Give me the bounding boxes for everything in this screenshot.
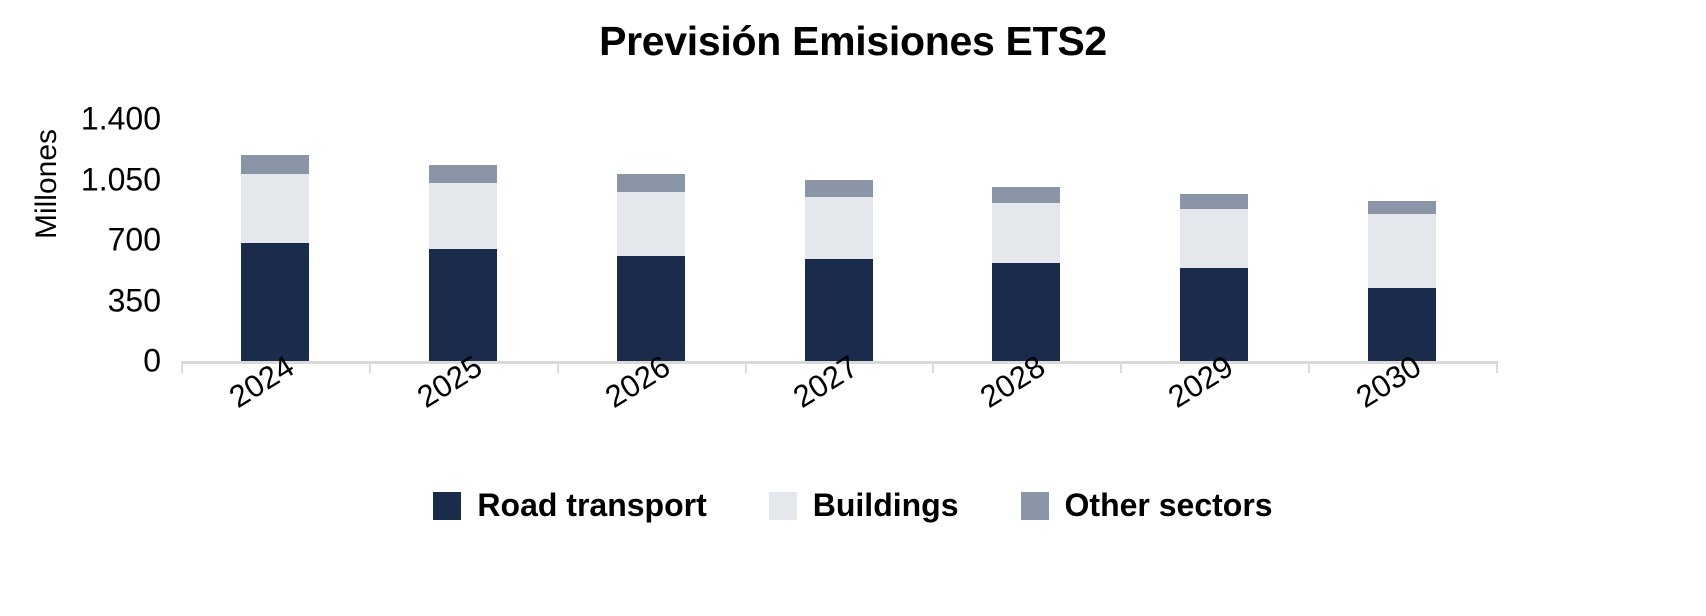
y-axis-tick-label: 1.050 (41, 161, 161, 198)
bar-segment[interactable] (617, 192, 685, 256)
bar-group[interactable] (992, 187, 1060, 361)
x-axis-tick-mark (932, 361, 934, 373)
bar-segment[interactable] (992, 263, 1060, 361)
bar-group[interactable] (617, 174, 685, 361)
legend-label: Road transport (477, 487, 706, 524)
bar-segment[interactable] (1180, 268, 1248, 361)
bar-segment[interactable] (805, 180, 873, 196)
bar-segment[interactable] (1368, 201, 1436, 214)
bar-segment[interactable] (617, 174, 685, 191)
bar-group[interactable] (241, 155, 309, 361)
bar-segment[interactable] (241, 243, 309, 361)
chart-legend: Road transportBuildingsOther sectors (0, 487, 1706, 524)
y-axis-tick-label: 0 (41, 343, 161, 380)
x-axis-tick-mark (1120, 361, 1122, 373)
legend-item[interactable]: Road transport (433, 487, 706, 524)
bar-group[interactable] (805, 180, 873, 361)
x-axis-tick-mark (557, 361, 559, 373)
bar-segment[interactable] (241, 174, 309, 243)
legend-label: Other sectors (1065, 487, 1273, 524)
chart-container: Previsión Emisiones ETS2 Millones 1.4001… (0, 0, 1706, 616)
legend-swatch-icon (1021, 492, 1049, 520)
y-axis-tick-label: 700 (41, 222, 161, 259)
legend-swatch-icon (433, 492, 461, 520)
x-axis-tick-mark (1308, 361, 1310, 373)
y-axis-tick-labels: 1.4001.0507003500 (41, 100, 161, 362)
bar-segment[interactable] (1180, 194, 1248, 209)
bar-segment[interactable] (429, 183, 497, 249)
legend-item[interactable]: Other sectors (1021, 487, 1273, 524)
bar-segment[interactable] (1368, 288, 1436, 361)
legend-label: Buildings (813, 487, 959, 524)
y-axis-tick-label: 1.400 (41, 101, 161, 138)
bar-segment[interactable] (992, 203, 1060, 264)
bar-segment[interactable] (805, 259, 873, 361)
x-axis-tick-mark (181, 361, 183, 373)
chart-title: Previsión Emisiones ETS2 (0, 18, 1706, 65)
bar-segment[interactable] (617, 256, 685, 361)
bar-segment[interactable] (429, 249, 497, 361)
bar-segment[interactable] (241, 155, 309, 174)
legend-item[interactable]: Buildings (769, 487, 959, 524)
bar-segment[interactable] (429, 165, 497, 183)
bar-segment[interactable] (1368, 214, 1436, 288)
legend-swatch-icon (769, 492, 797, 520)
bar-segment[interactable] (805, 197, 873, 259)
y-axis-tick-label: 350 (41, 282, 161, 319)
x-axis-tick-mark (745, 361, 747, 373)
bar-group[interactable] (1180, 194, 1248, 361)
bar-segment[interactable] (992, 187, 1060, 203)
plot-area (181, 100, 1496, 361)
x-axis-tick-mark (369, 361, 371, 373)
bar-segment[interactable] (1180, 209, 1248, 268)
bar-group[interactable] (1368, 201, 1436, 361)
bar-group[interactable] (429, 165, 497, 361)
x-axis-tick-mark (1496, 361, 1498, 373)
